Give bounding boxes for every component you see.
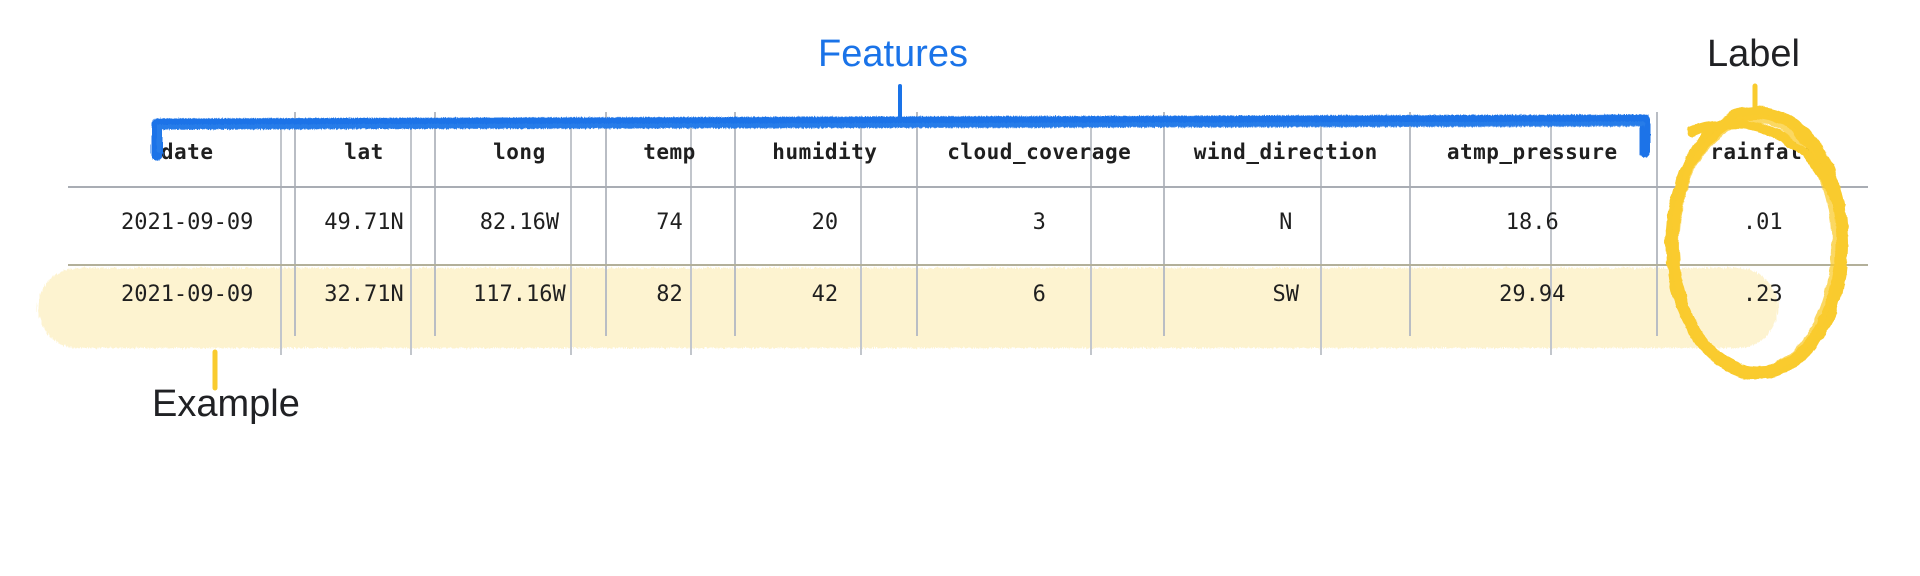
cell-lat: 32.71N	[294, 258, 433, 330]
cell-long: 82.16W	[434, 186, 605, 258]
cell-atmp-pressure: 29.94	[1409, 258, 1656, 330]
column-header-date: date	[80, 118, 294, 186]
cell-wind-direction: SW	[1163, 258, 1410, 330]
column-header-wind-direction: wind_direction	[1163, 118, 1410, 186]
row-divider	[68, 264, 1868, 266]
column-header-temp: temp	[605, 118, 734, 186]
label-annotation-label: Label	[1707, 33, 1800, 76]
cell-humidity: 42	[734, 258, 916, 330]
cell-temp: 74	[605, 186, 734, 258]
cell-date: 2021-09-09	[80, 186, 294, 258]
cell-long: 117.16W	[434, 258, 605, 330]
cell-rainfall: .01	[1656, 186, 1870, 258]
cell-rainfall: .23	[1656, 258, 1870, 330]
cell-humidity: 20	[734, 186, 916, 258]
cell-temp: 82	[605, 258, 734, 330]
dataset-table: date lat long temp humidity cloud_covera…	[80, 118, 1870, 330]
table-row: 2021-09-09 49.71N 82.16W 74 20 3 N 18.6 …	[80, 186, 1870, 258]
cell-lat: 49.71N	[294, 186, 433, 258]
column-header-humidity: humidity	[734, 118, 916, 186]
column-header-atmp-pressure: atmp_pressure	[1409, 118, 1656, 186]
header-divider	[68, 186, 1868, 188]
example-annotation-label: Example	[152, 383, 300, 426]
weather-dataset-table: date lat long temp humidity cloud_covera…	[80, 118, 1870, 330]
column-header-lat: lat	[294, 118, 433, 186]
cell-cloud-coverage: 3	[916, 186, 1163, 258]
cell-date: 2021-09-09	[80, 258, 294, 330]
column-header-cloud-coverage: cloud_coverage	[916, 118, 1163, 186]
table-header-row: date lat long temp humidity cloud_covera…	[80, 118, 1870, 186]
cell-wind-direction: N	[1163, 186, 1410, 258]
diagram-canvas: date lat long temp humidity cloud_covera…	[0, 0, 1920, 576]
table-row: 2021-09-09 32.71N 117.16W 82 42 6 SW 29.…	[80, 258, 1870, 330]
features-annotation-label: Features	[818, 33, 968, 76]
column-header-long: long	[434, 118, 605, 186]
cell-atmp-pressure: 18.6	[1409, 186, 1656, 258]
cell-cloud-coverage: 6	[916, 258, 1163, 330]
column-header-rainfall: rainfall	[1656, 118, 1870, 186]
